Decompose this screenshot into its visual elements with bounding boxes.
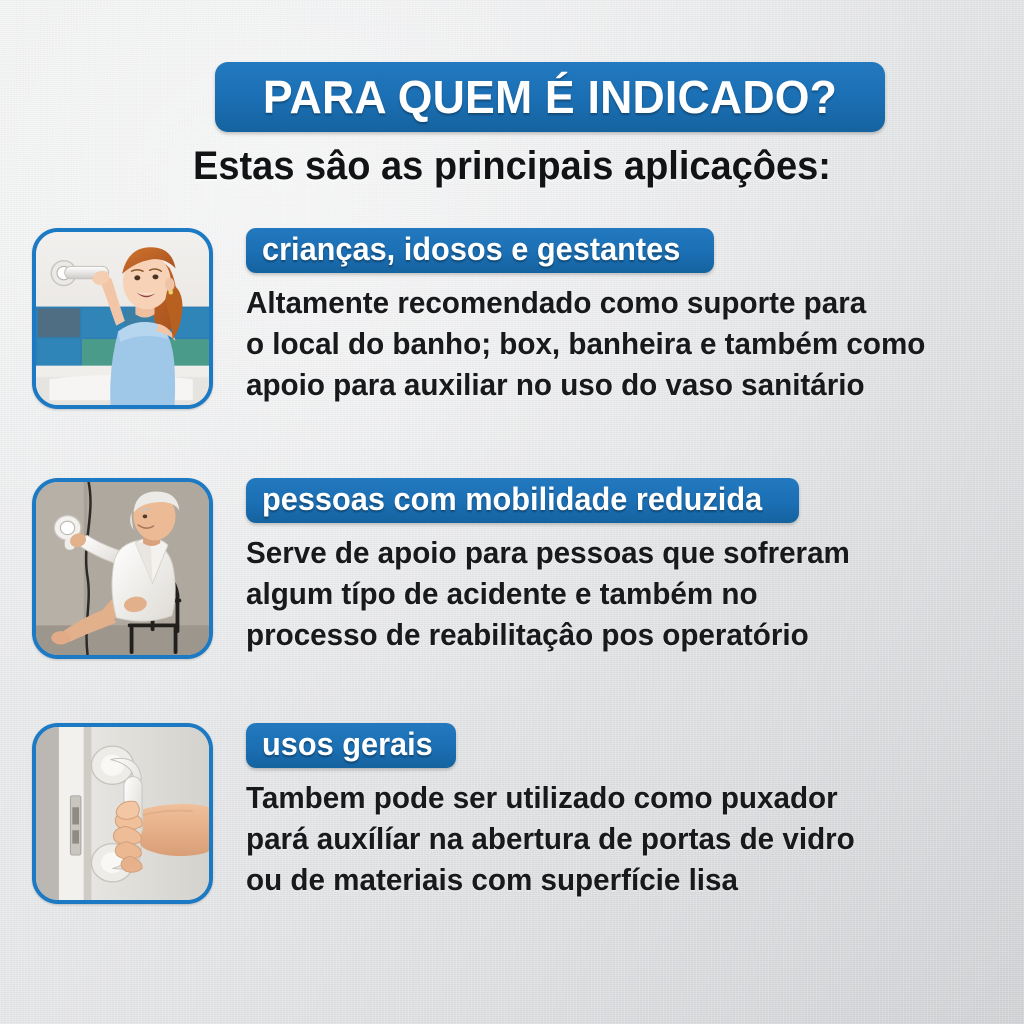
- section-badge-usos-gerais: usos gerais: [246, 723, 456, 768]
- body-line: Serve de apoio para pessoas que sofreram: [246, 532, 978, 573]
- body-line: Altamente recomendado como suporte para: [246, 282, 978, 323]
- section-body-usos-gerais: Tambem pode ser utilizado como puxador p…: [246, 777, 978, 901]
- section-badge-mobilidade-reduzida: pessoas com mobilidade reduzida: [246, 478, 799, 523]
- infographic-poster: PARA QUEM É INDICADO? Estas sâo as princ…: [0, 0, 1024, 1024]
- hand-grip-bar-on-door-illustration: [36, 727, 209, 900]
- section-badge-criancas-idosos-gestantes: crianças, idosos e gestantes: [246, 228, 714, 273]
- page-title-badge: PARA QUEM É INDICADO?: [215, 62, 885, 132]
- page-subtitle: Estas sâo as principais aplicaçôes:: [26, 144, 999, 189]
- body-line: algum típo de acidente e também no: [246, 573, 978, 614]
- elderly-man-shower-chair-illustration: [36, 482, 209, 655]
- body-line: o local do banho; box, banheira e também…: [246, 323, 978, 364]
- page-title: PARA QUEM É INDICADO?: [263, 70, 837, 124]
- section-badge-label: pessoas com mobilidade reduzida: [262, 483, 762, 515]
- body-line: processo de reabilitaçâo pos operatório: [246, 614, 978, 655]
- section-body-criancas-idosos-gestantes: Altamente recomendado como suporte para …: [246, 282, 978, 406]
- section-text-usos-gerais: usos gerais Tambem pode ser utilizado co…: [246, 723, 1024, 901]
- section-row-mobilidade-reduzida: pessoas com mobilidade reduzida Serve de…: [0, 478, 1024, 659]
- section-badge-label: usos gerais: [262, 728, 433, 760]
- section-row-criancas-idosos-gestantes: crianças, idosos e gestantes Altamente r…: [0, 228, 1024, 409]
- body-line: pará auxílíar na abertura de portas de v…: [246, 818, 978, 859]
- thumbnail-usos-gerais: [32, 723, 213, 904]
- section-badge-label: crianças, idosos e gestantes: [262, 233, 680, 265]
- body-line: ou de materiais com superfície lisa: [246, 859, 978, 900]
- thumbnail-criancas-idosos-gestantes: [32, 228, 213, 409]
- section-row-usos-gerais: usos gerais Tambem pode ser utilizado co…: [0, 723, 1024, 904]
- section-text-criancas-idosos-gestantes: crianças, idosos e gestantes Altamente r…: [246, 228, 1024, 406]
- section-body-mobilidade-reduzida: Serve de apoio para pessoas que sofreram…: [246, 532, 978, 656]
- body-line: Tambem pode ser utilizado como puxador: [246, 777, 978, 818]
- child-in-bathtub-illustration: [36, 232, 209, 405]
- thumbnail-mobilidade-reduzida: [32, 478, 213, 659]
- body-line: apoio para auxiliar no uso do vaso sanit…: [246, 364, 978, 405]
- section-text-mobilidade-reduzida: pessoas com mobilidade reduzida Serve de…: [246, 478, 1024, 656]
